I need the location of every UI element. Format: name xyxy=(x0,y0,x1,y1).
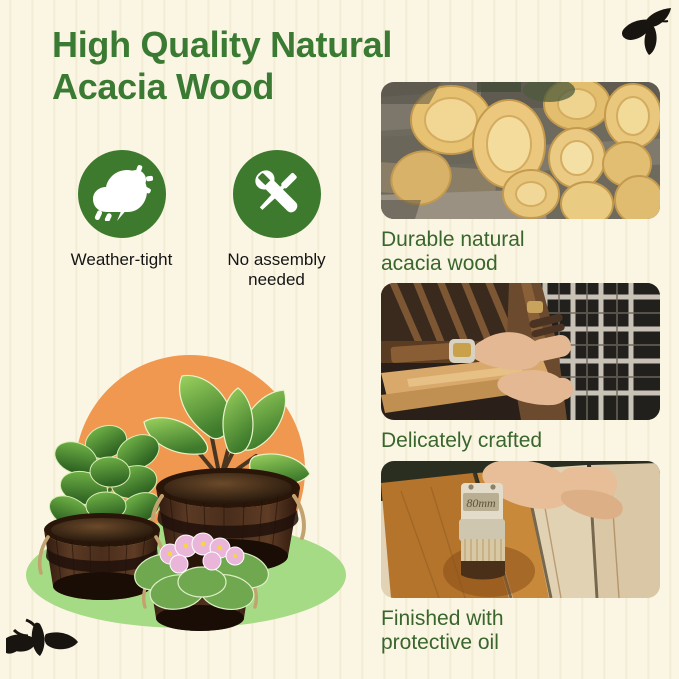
cloud-sun-rain-lightning-icon xyxy=(91,163,153,226)
wrench-screwdriver-icon xyxy=(249,164,305,225)
info-card-durable-wood: Durable natural acacia wood xyxy=(381,82,660,275)
card-caption: Finished with protective oil xyxy=(381,607,660,654)
card-caption: Durable natural acacia wood xyxy=(381,228,660,275)
tape-measure xyxy=(449,339,475,363)
carpenter-crafting-wood-photo xyxy=(381,283,660,420)
hero-product-image xyxy=(14,330,364,650)
leaf-branch-silhouette-bottom-left xyxy=(6,614,78,675)
paint-brush: 80mm xyxy=(459,483,505,580)
feature-label: Weather-tight xyxy=(44,250,199,270)
feature-no-assembly: No assembly needed xyxy=(199,150,354,291)
feature-label: No assembly needed xyxy=(199,250,354,291)
feature-badge-row: Weather-tight No xyxy=(44,150,364,291)
feature-weather-tight: Weather-tight xyxy=(44,150,199,291)
info-card-protective-oil: 80mm Finished with protective oil xyxy=(381,461,660,654)
brush-applying-protective-oil-photo: 80mm xyxy=(381,461,660,598)
leaf-branch-silhouette-top-right xyxy=(613,4,673,61)
card-caption: Delicately crafted xyxy=(381,429,660,453)
feature-badge-circle xyxy=(233,150,321,238)
brush-size-label: 80mm xyxy=(466,496,496,510)
stacked-cut-acacia-logs-photo xyxy=(381,82,660,219)
info-card-delicately-crafted: Delicately crafted xyxy=(381,283,660,453)
feature-badge-circle xyxy=(78,150,166,238)
